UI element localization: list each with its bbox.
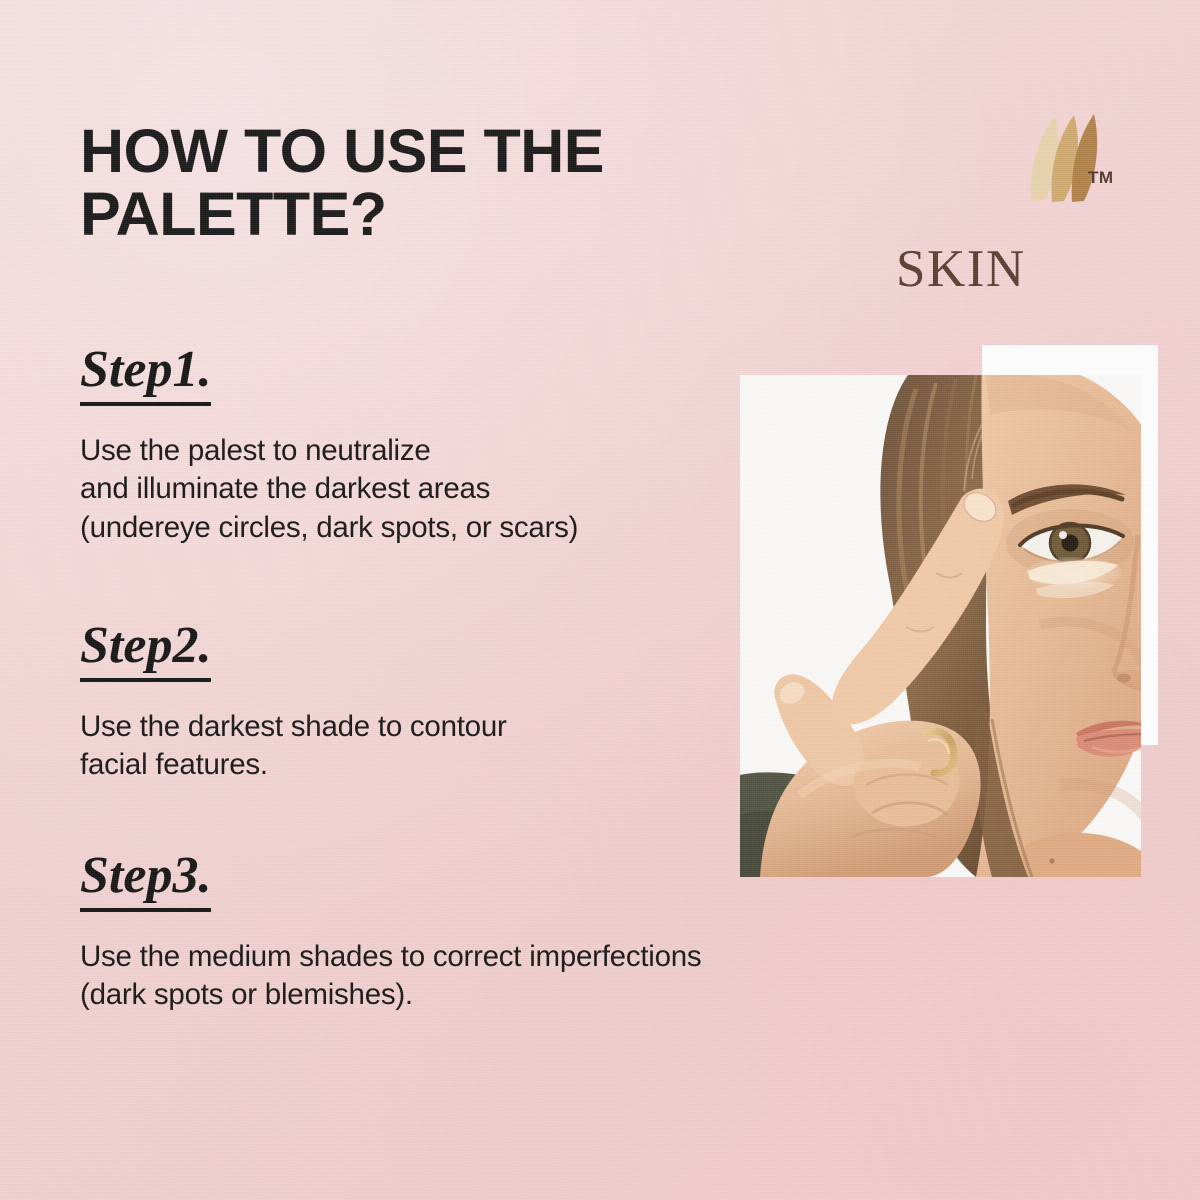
step-1-body: Use the palest to neutralize and illumin… bbox=[80, 432, 578, 547]
step-3-heading: Step3. bbox=[80, 850, 211, 912]
poster-canvas: HOW TO USE THE PALETTE? SKIN PAINTS TM S… bbox=[0, 0, 1200, 1200]
step-1-heading: Step1. bbox=[80, 344, 211, 406]
step-2-body-line-1: Use the darkest shade to contour bbox=[80, 708, 507, 746]
trademark-mark: TM bbox=[1088, 168, 1114, 188]
photo-block bbox=[700, 330, 1180, 890]
brand-logo: SKIN PAINTS TM bbox=[896, 118, 1126, 246]
photo-white-card-edge bbox=[1141, 345, 1158, 745]
step-3: Step3. Use the medium shades to correct … bbox=[80, 850, 701, 1015]
page-title-line-1: HOW TO USE THE bbox=[80, 120, 700, 183]
step-2: Step2. Use the darkest shade to contour … bbox=[80, 620, 507, 785]
step-2-body-line-2: facial features. bbox=[80, 746, 507, 784]
step-3-body: Use the medium shades to correct imperfe… bbox=[80, 938, 701, 1015]
page-title-line-2: PALETTE? bbox=[80, 183, 700, 246]
page-title: HOW TO USE THE PALETTE? bbox=[80, 120, 700, 246]
step-3-body-line-2: (dark spots or blemishes). bbox=[80, 976, 701, 1014]
step-1: Step1. Use the palest to neutralize and … bbox=[80, 344, 578, 547]
tutorial-photo bbox=[740, 375, 1141, 877]
step-1-body-line-2: and illuminate the darkest areas bbox=[80, 470, 578, 508]
step-1-body-line-3: (undereye circles, dark spots, or scars) bbox=[80, 509, 578, 547]
step-3-body-line-1: Use the medium shades to correct imperfe… bbox=[80, 938, 701, 976]
step-2-heading: Step2. bbox=[80, 620, 211, 682]
step-2-body: Use the darkest shade to contour facial … bbox=[80, 708, 507, 785]
brand-wordmark-line-1: SKIN bbox=[896, 243, 1086, 295]
step-1-body-line-1: Use the palest to neutralize bbox=[80, 432, 578, 470]
